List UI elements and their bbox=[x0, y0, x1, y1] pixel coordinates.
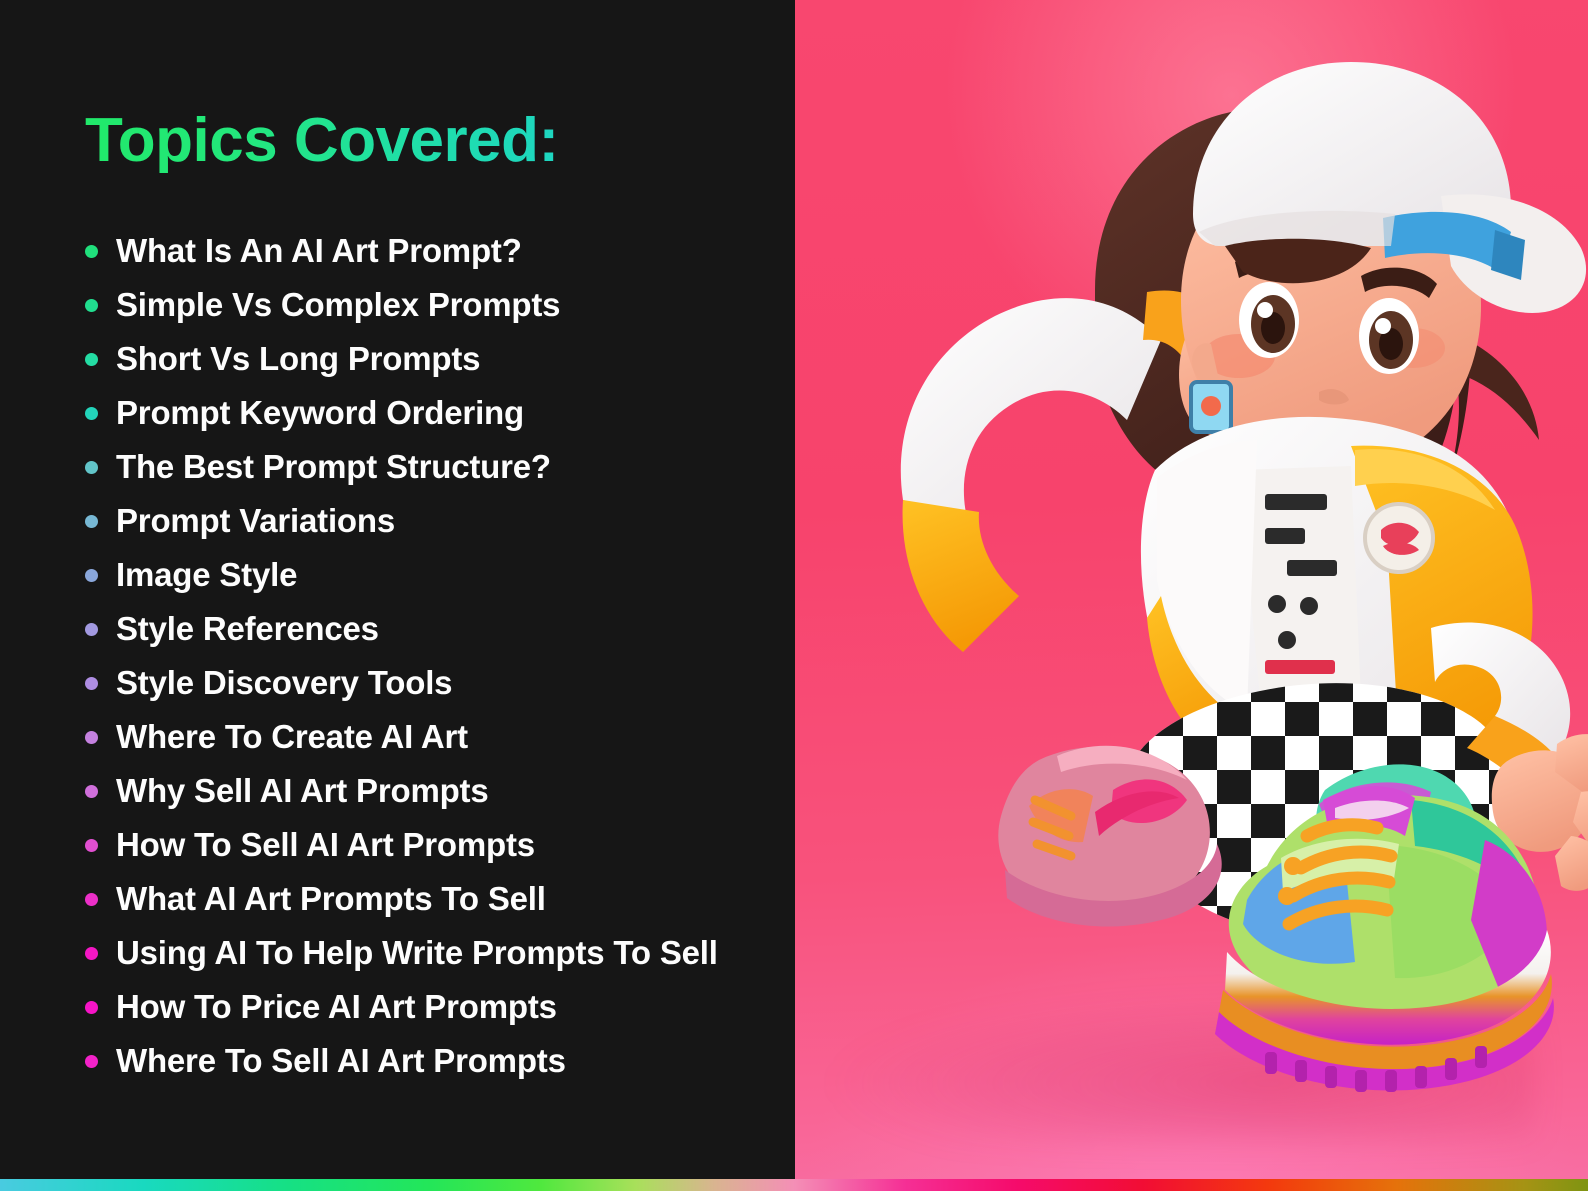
list-item: The Best Prompt Structure? bbox=[85, 439, 795, 493]
bottom-gradient-bar bbox=[0, 1179, 1588, 1191]
bullet-dot-icon bbox=[85, 785, 98, 798]
list-item: Where To Sell AI Art Prompts bbox=[85, 1033, 795, 1087]
bullet-dot-icon bbox=[85, 1055, 98, 1068]
bullet-dot-icon bbox=[85, 407, 98, 420]
bullet-dot-icon bbox=[85, 893, 98, 906]
topic-label: Where To Create AI Art bbox=[116, 720, 468, 753]
topic-label: What Is An AI Art Prompt? bbox=[116, 234, 522, 267]
topic-label: What AI Art Prompts To Sell bbox=[116, 882, 546, 915]
list-item: What AI Art Prompts To Sell bbox=[85, 871, 795, 925]
topic-label: Why Sell AI Art Prompts bbox=[116, 774, 489, 807]
topic-label: Using AI To Help Write Prompts To Sell bbox=[116, 936, 718, 969]
bullet-dot-icon bbox=[85, 731, 98, 744]
list-item: Simple Vs Complex Prompts bbox=[85, 277, 795, 331]
bullet-dot-icon bbox=[85, 677, 98, 690]
list-item: Style References bbox=[85, 601, 795, 655]
bullet-dot-icon bbox=[85, 839, 98, 852]
bullet-dot-icon bbox=[85, 299, 98, 312]
bullet-dot-icon bbox=[85, 515, 98, 528]
bullet-dot-icon bbox=[85, 461, 98, 474]
slide-root: Topics Covered: What Is An AI Art Prompt… bbox=[0, 0, 1588, 1191]
bullet-dot-icon bbox=[85, 1001, 98, 1014]
list-item: Short Vs Long Prompts bbox=[85, 331, 795, 385]
list-item: Prompt Variations bbox=[85, 493, 795, 547]
list-item: Style Discovery Tools bbox=[85, 655, 795, 709]
topic-label: Image Style bbox=[116, 558, 297, 591]
list-item: Prompt Keyword Ordering bbox=[85, 385, 795, 439]
topic-label: Style Discovery Tools bbox=[116, 666, 452, 699]
list-item: How To Price AI Art Prompts bbox=[85, 979, 795, 1033]
bullet-dot-icon bbox=[85, 353, 98, 366]
page-title: Topics Covered: bbox=[85, 108, 559, 173]
topic-label: Short Vs Long Prompts bbox=[116, 342, 480, 375]
list-item: How To Sell AI Art Prompts bbox=[85, 817, 795, 871]
bullet-dot-icon bbox=[85, 245, 98, 258]
topic-label: Style References bbox=[116, 612, 379, 645]
list-item: Why Sell AI Art Prompts bbox=[85, 763, 795, 817]
topics-list: What Is An AI Art Prompt? Simple Vs Comp… bbox=[85, 223, 795, 1087]
list-item: Using AI To Help Write Prompts To Sell bbox=[85, 925, 795, 979]
bullet-dot-icon bbox=[85, 569, 98, 582]
character-illustration bbox=[795, 0, 1588, 1191]
list-item: What Is An AI Art Prompt? bbox=[85, 223, 795, 277]
left-content-panel: Topics Covered: What Is An AI Art Prompt… bbox=[0, 0, 795, 1191]
topic-label: How To Price AI Art Prompts bbox=[116, 990, 557, 1023]
topic-label: Prompt Variations bbox=[116, 504, 395, 537]
topic-label: Where To Sell AI Art Prompts bbox=[116, 1044, 566, 1077]
list-item: Image Style bbox=[85, 547, 795, 601]
topic-label: The Best Prompt Structure? bbox=[116, 450, 551, 483]
bullet-dot-icon bbox=[85, 947, 98, 960]
illustration-panel bbox=[795, 0, 1588, 1191]
topic-label: How To Sell AI Art Prompts bbox=[116, 828, 535, 861]
topic-label: Prompt Keyword Ordering bbox=[116, 396, 524, 429]
bullet-dot-icon bbox=[85, 623, 98, 636]
topic-label: Simple Vs Complex Prompts bbox=[116, 288, 560, 321]
list-item: Where To Create AI Art bbox=[85, 709, 795, 763]
